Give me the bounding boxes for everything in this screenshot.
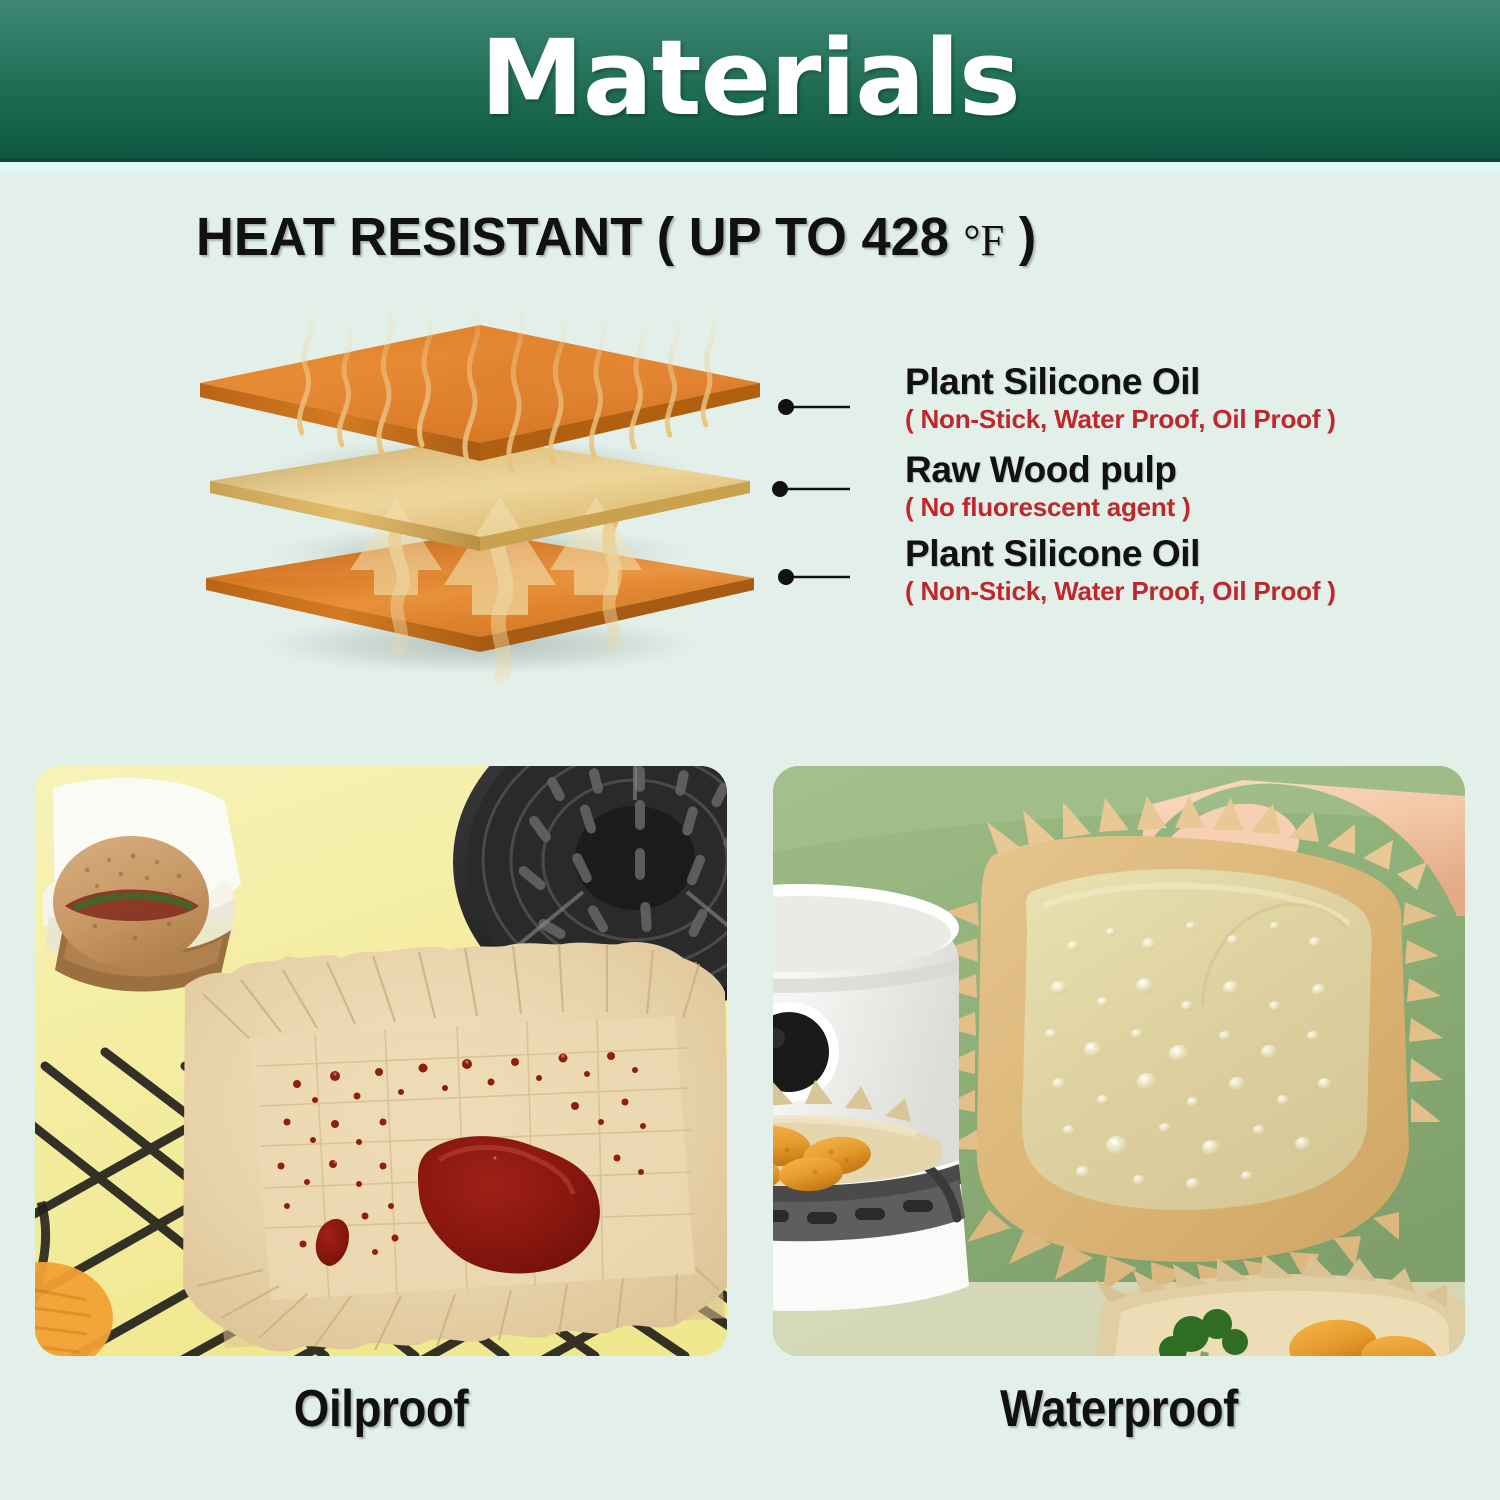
caption-oilproof: Oilproof — [77, 1378, 686, 1440]
photo-waterproof — [773, 766, 1465, 1356]
callout-subtitle: ( No fluorescent agent ) — [905, 491, 1191, 523]
photo-oilproof — [35, 766, 727, 1356]
callout-layer-middle: Raw Wood pulp ( No fluorescent agent ) — [905, 450, 1191, 523]
heat-resistant-headline: HEAT RESISTANT ( UP TO 428 °F ) — [196, 206, 1224, 268]
layer-diagram — [150, 285, 850, 705]
callout-layer-bottom: Plant Silicone Oil ( Non-Stick, Water Pr… — [905, 534, 1336, 607]
liner-stack-and-sandwich — [43, 778, 241, 992]
header-highlight-strip — [0, 162, 1500, 174]
callout-title: Plant Silicone Oil — [905, 362, 1336, 402]
callout-subtitle: ( Non-Stick, Water Proof, Oil Proof ) — [905, 403, 1336, 435]
page-title: Materials — [0, 16, 1500, 140]
paper-liner-with-oil — [183, 942, 727, 1352]
header-banner: Materials — [0, 0, 1500, 162]
air-fryer — [773, 884, 969, 1311]
callout-title: Raw Wood pulp — [905, 450, 1191, 490]
callout-title: Plant Silicone Oil — [905, 534, 1336, 574]
caption-waterproof: Waterproof — [815, 1378, 1424, 1440]
degrees-fahrenheit-symbol: °F — [963, 216, 1004, 265]
callout-leader-lines — [772, 399, 850, 585]
callout-subtitle: ( Non-Stick, Water Proof, Oil Proof ) — [905, 575, 1336, 607]
headline-prefix: HEAT RESISTANT ( UP TO 428 — [196, 207, 963, 267]
callout-layer-top: Plant Silicone Oil ( Non-Stick, Water Pr… — [905, 362, 1336, 435]
headline-suffix: ) — [1004, 207, 1036, 267]
